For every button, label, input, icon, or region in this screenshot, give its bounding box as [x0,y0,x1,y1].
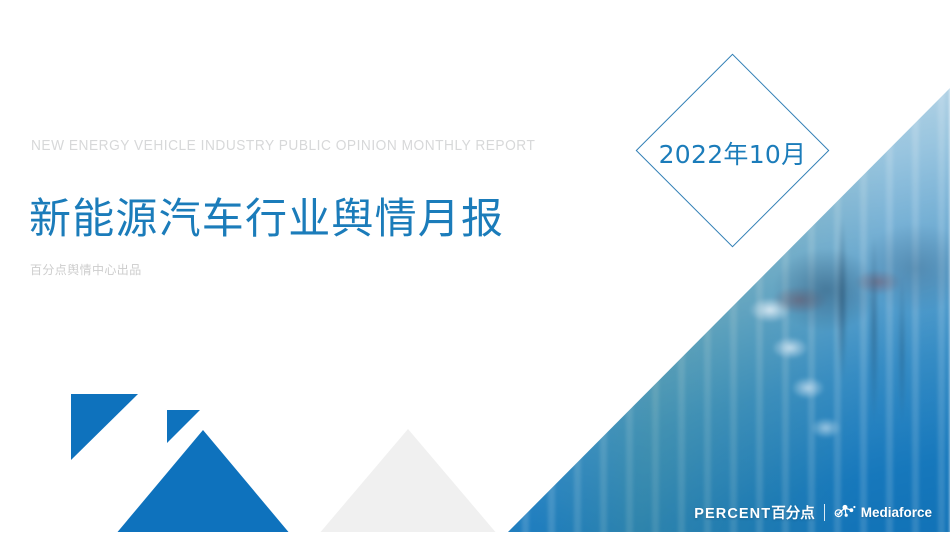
byline: 百分点舆情中心出品 [30,261,142,278]
percent-logo-cn: 百分点 [771,506,815,522]
eyebrow-subtitle: NEW ENERGY VEHICLE INDUSTRY PUBLIC OPINI… [31,138,535,154]
logo-divider [824,504,825,521]
mediaforce-logo: Mediaforce [834,502,932,523]
percent-logo-latin: PERCENT [694,506,771,522]
mediaforce-name: Mediaforce [861,505,932,520]
page-title: 新能源汽车行业舆情月报 [29,196,504,241]
date-badge-label: 2022年10月 [635,135,830,171]
cover-slide: NEW ENERGY VEHICLE INDUSTRY PUBLIC OPINI… [0,0,950,535]
thin-diagonal-line [0,470,44,535]
light-gray-triangle [318,429,498,535]
large-blue-triangle [115,430,291,535]
molecule-icon [834,502,856,523]
percent-logo: PERCENT百分点 [694,502,815,523]
footer-logo-lockup: PERCENT百分点 Mediaforce [694,502,932,523]
date-badge: 2022年10月 [635,53,830,248]
